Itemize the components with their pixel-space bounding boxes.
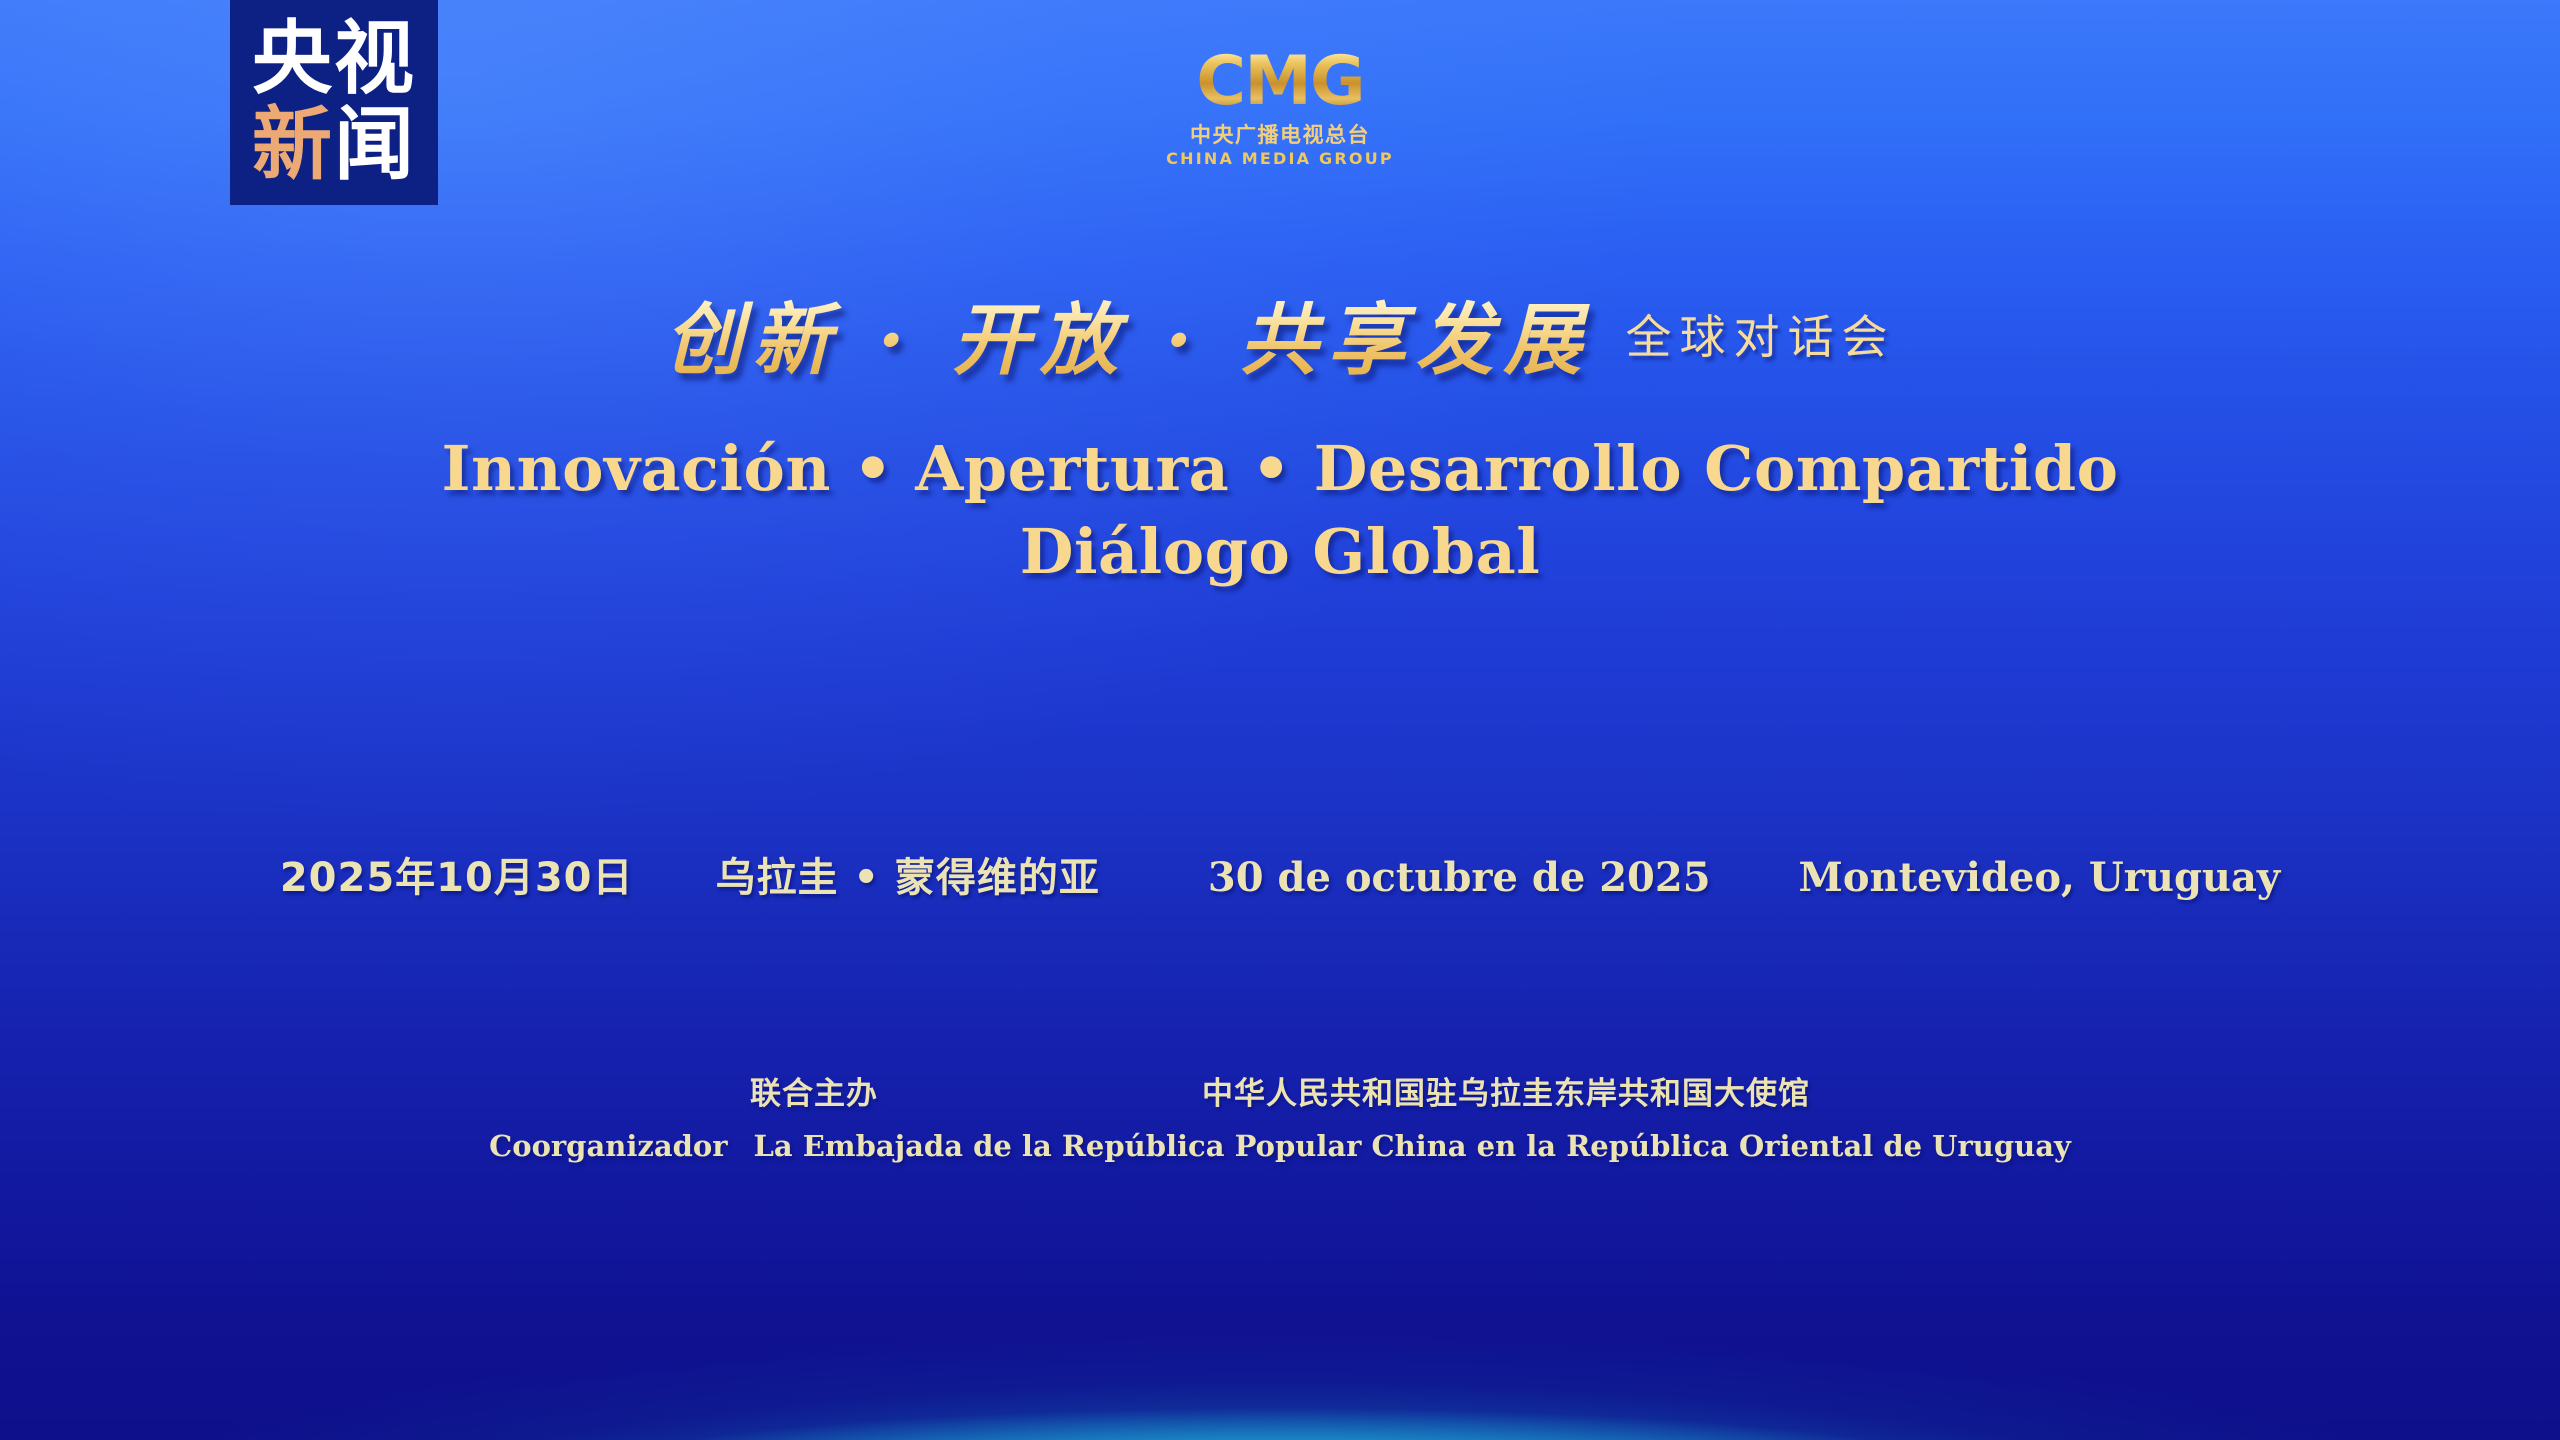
organizer-name-spanish: La Embajada de la República Popular Chin… <box>754 1129 2071 1163</box>
organizer-name-chinese: 中华人民共和国驻乌拉圭东岸共和国大使馆 <box>1202 1068 1810 1113</box>
bottom-cyan-glow-core <box>0 1330 2560 1440</box>
cmg-chinese-name: 中央广播电视总台 <box>1166 125 1394 146</box>
cctv-logo-line1: 央视 <box>252 19 416 99</box>
organizer-block: 联合主办 中华人民共和国驻乌拉圭东岸共和国大使馆 Coorganizador L… <box>0 1068 2560 1163</box>
poster-stage: 央视 新闻 CMG 中央广播电视总台 CHINA MEDIA GROUP 创新 … <box>0 0 2560 1440</box>
headline-spanish-line1: Innovación • Apertura • Desarrollo Compa… <box>0 432 2560 505</box>
headline-spanish: Innovación • Apertura • Desarrollo Compa… <box>0 432 2560 588</box>
event-date-chinese: 2025年10月30日 <box>280 845 634 903</box>
organizer-label-chinese: 联合主办 <box>750 1068 878 1113</box>
bottom-cyan-glow <box>0 1140 2560 1440</box>
headline-chinese: 创新 · 开放 · 共享发展全球对话会 <box>0 278 2560 390</box>
background-sheen <box>0 0 2560 1440</box>
headline-chinese-main: 创新 · 开放 · 共享发展 <box>665 295 1592 386</box>
event-location-chinese: 乌拉圭 • 蒙得维的亚 <box>716 845 1100 903</box>
cctv-logo-line2: 新闻 <box>252 105 416 185</box>
cctv-logo-char-xin: 新 <box>252 98 334 191</box>
headline-chinese-sub: 全球对话会 <box>1625 310 1895 364</box>
cctv-news-logo: 央视 新闻 <box>230 0 438 205</box>
cctv-logo-char-wen: 闻 <box>334 98 416 191</box>
cmg-wordmark: CMG <box>1166 48 1394 116</box>
organizer-row-spanish: Coorganizador La Embajada de la Repúblic… <box>0 1129 2560 1163</box>
cmg-english-name: CHINA MEDIA GROUP <box>1166 151 1394 167</box>
organizer-row-chinese: 联合主办 中华人民共和国驻乌拉圭东岸共和国大使馆 <box>0 1068 2560 1113</box>
cmg-logo: CMG 中央广播电视总台 CHINA MEDIA GROUP <box>1166 48 1394 167</box>
organizer-label-spanish: Coorganizador <box>489 1129 727 1163</box>
event-meta-row: 2025年10月30日 乌拉圭 • 蒙得维的亚 30 de octubre de… <box>0 845 2560 903</box>
event-location-spanish: Montevideo, Uruguay <box>1799 854 2281 901</box>
headline-spanish-line2: Diálogo Global <box>0 515 2560 588</box>
event-date-spanish: 30 de octubre de 2025 <box>1208 854 1711 901</box>
